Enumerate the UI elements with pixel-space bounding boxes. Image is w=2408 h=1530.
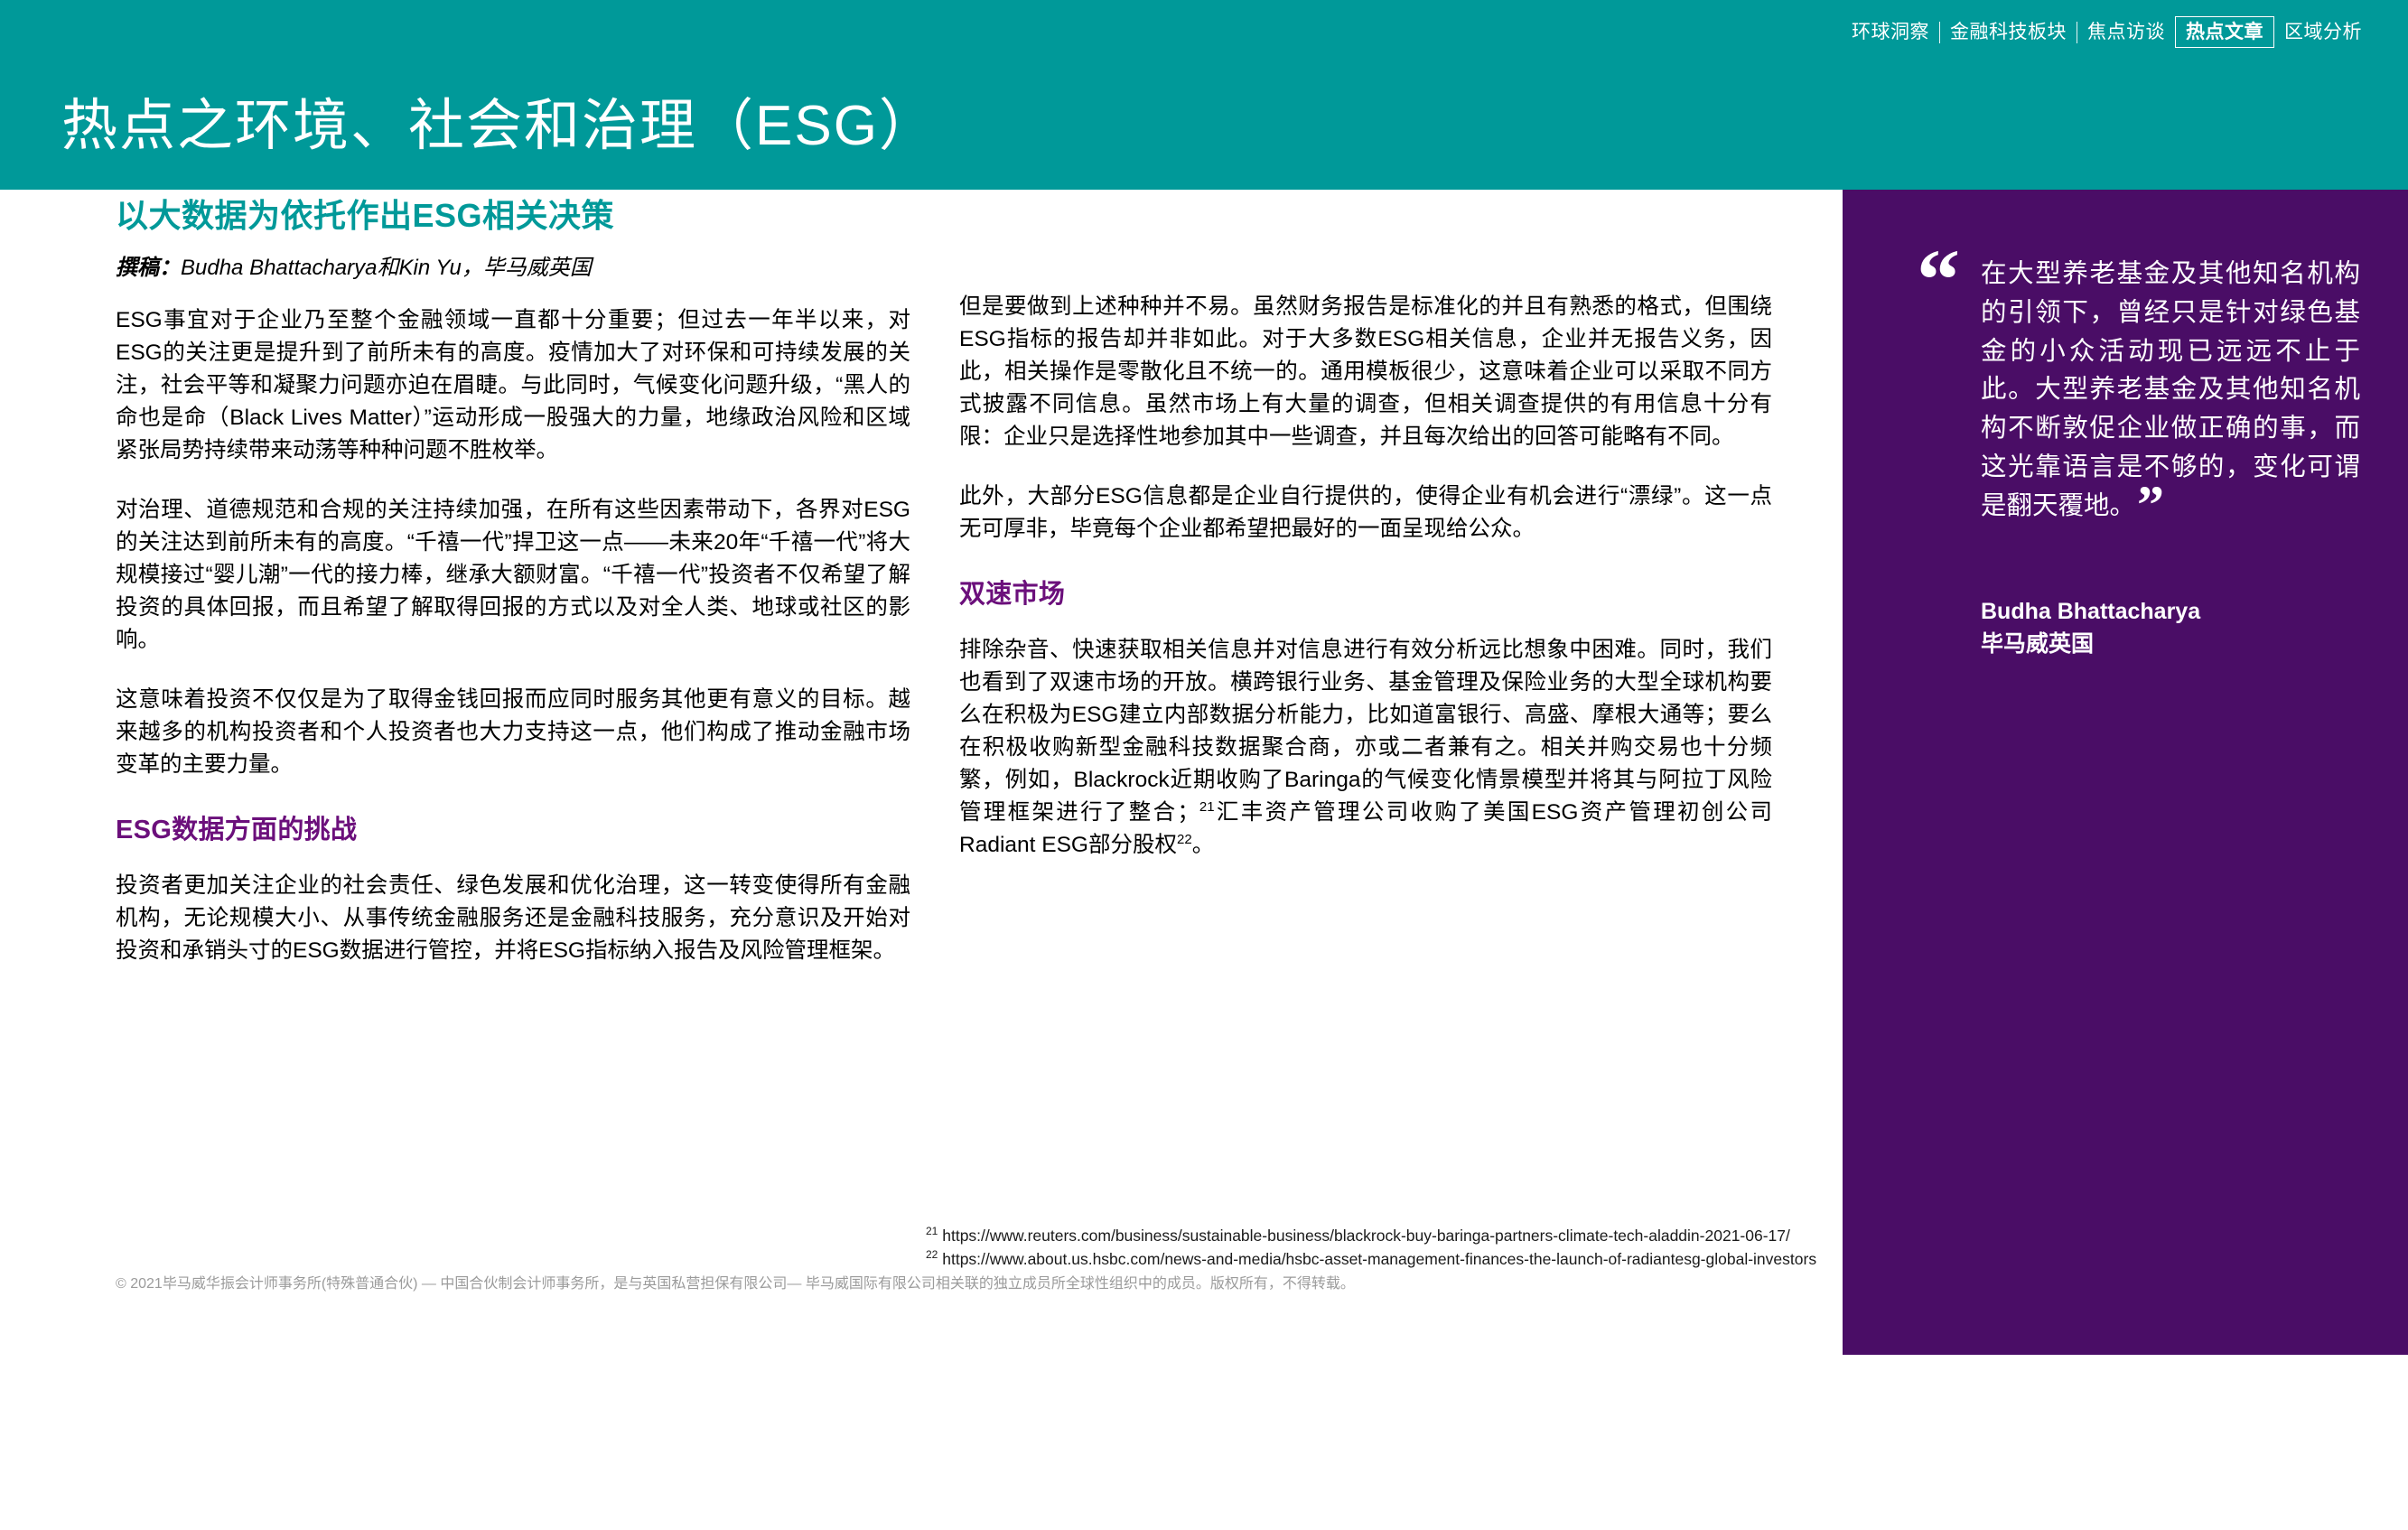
breadcrumb-item-global-insight[interactable]: 环球洞察 [1842,16,1939,48]
footnote-ref-22[interactable]: 22 [1177,832,1192,847]
footnote-1-url[interactable]: https://www.reuters.com/business/sustain… [942,1227,1790,1245]
left-paragraph-4: 投资者更加关注企业的社会责任、绿色发展和优化治理，这一转变使得所有金融机构，无论… [116,870,910,967]
footnote-ref-21[interactable]: 21 [1199,799,1215,815]
mid-paragraph-3-part3: 。 [1192,833,1215,857]
mid-paragraph-3-part1: 排除杂音、快速获取相关信息并对信息进行有效分析远比想象中困难。同时，我们也看到了… [959,638,1772,825]
footnote-2-marker: 22 [926,1248,938,1261]
breadcrumb: 环球洞察 金融科技板块 焦点访谈 热点文章 区域分析 [1842,16,2372,48]
open-quote-icon: “ [1917,249,1956,310]
quote-panel: “ 在大型养老基金及其他知名机构的引领下，曾经只是针对绿色基金的小众活动现已远远… [1843,190,2408,1355]
page-number: 30 [2357,1504,2381,1529]
article-byline: 撰稿：Budha Bhattacharya和Kin Yu，毕马威英国 [116,249,910,281]
mid-subheading-two-speed-market: 双速市场 [959,573,1772,611]
breadcrumb-separator [2077,22,2077,43]
header-band: 环球洞察 金融科技板块 焦点访谈 热点文章 区域分析 热点之环境、社会和治理（E… [0,0,2408,190]
breadcrumb-separator [1939,22,1940,43]
mid-paragraph-3: 排除杂音、快速获取相关信息并对信息进行有效分析远比想象中困难。同时，我们也看到了… [959,634,1772,862]
left-paragraph-1: ESG事宜对于企业乃至整个金融领域一直都十分重要；但过去一年半以来，对ESG的关… [116,304,910,467]
footnotes: 21 https://www.reuters.com/business/sust… [926,1224,1816,1271]
byline-value: Budha Bhattacharya和Kin Yu，毕马威英国 [181,256,592,280]
quote-attribution: Budha Bhattacharya 毕马威英国 [1981,596,2200,660]
breadcrumb-item-focus-interview[interactable]: 焦点访谈 [2077,16,2175,48]
footnote-1-marker: 21 [926,1225,938,1237]
copyright-notice: © 2021毕马威华振会计师事务所(特殊普通合伙) — 中国合伙制会计师事务所，… [116,1271,1355,1292]
breadcrumb-item-fintech-sector[interactable]: 金融科技板块 [1940,16,2077,48]
page-title: 热点之环境、社会和治理（ESG） [61,79,937,161]
article-heading: 以大数据为依托作出ESG相关决策 [116,190,910,237]
quote-author-org: 毕马威英国 [1981,629,2200,661]
footnote-2: 22 https://www.about.us.hsbc.com/news-an… [926,1247,1816,1271]
left-paragraph-2: 对治理、道德规范和合规的关注持续加强，在所有这些因素带动下，各界对ESG的关注达… [116,494,910,657]
breadcrumb-item-hot-articles[interactable]: 热点文章 [2175,16,2274,48]
byline-label: 撰稿： [116,256,181,280]
mid-paragraph-2: 此外，大部分ESG信息都是企业自行提供的，使得企业有机会进行“漂绿”。这一点无可… [959,480,1772,546]
left-subheading-esg-data-challenges: ESG数据方面的挑战 [116,808,910,846]
breadcrumb-item-regional-analysis[interactable]: 区域分析 [2274,16,2372,48]
footnote-2-url[interactable]: https://www.about.us.hsbc.com/news-and-m… [942,1250,1816,1268]
quote-body: 在大型养老基金及其他知名机构的引领下，曾经只是针对绿色基金的小众活动现已远远不止… [1981,259,2360,520]
quote-text: 在大型养老基金及其他知名机构的引领下，曾经只是针对绿色基金的小众活动现已远远不止… [1981,255,2360,525]
mid-paragraph-1: 但是要做到上述种种并不易。虽然财务报告是标准化的并且有熟悉的格式，但围绕ESG指… [959,291,1772,453]
left-paragraph-3: 这意味着投资不仅仅是为了取得金钱回报而应同时服务其他更有意义的目标。越来越多的机… [116,684,910,781]
quote-author-name: Budha Bhattacharya [1981,596,2200,629]
left-column: 以大数据为依托作出ESG相关决策 撰稿：Budha Bhattacharya和K… [116,190,910,994]
footnote-1: 21 https://www.reuters.com/business/sust… [926,1224,1816,1247]
middle-column: 但是要做到上述种种并不易。虽然财务报告是标准化的并且有熟悉的格式，但围绕ESG指… [959,190,1772,889]
